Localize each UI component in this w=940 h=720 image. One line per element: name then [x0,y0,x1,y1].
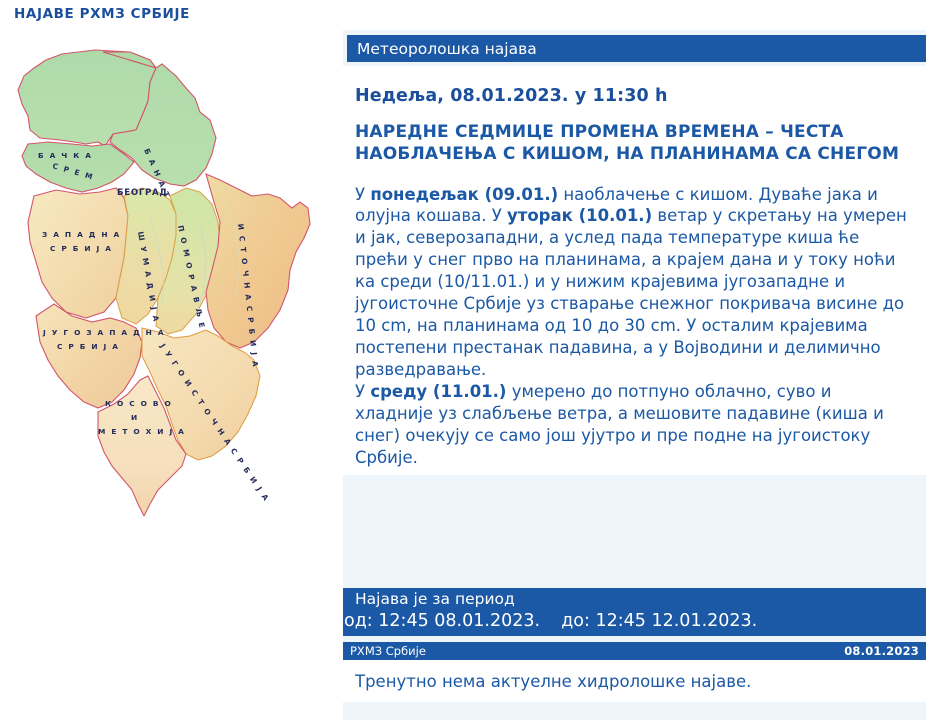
header-spacer [343,66,926,76]
map-label-kosovo-3: М Е Т О Х И Ј А [98,427,186,436]
source-date: 08.01.2023 [844,644,919,658]
source-name: РХМЗ Србије [350,644,426,658]
map-label-beograd: БЕОГРАД [117,188,168,198]
period-from-label: од: [344,611,373,631]
serbia-map[interactable]: Б А Ч К А Б А Н А Т С Р Е М БЕОГРАД З А … [0,46,340,516]
map-region-srem[interactable] [22,142,134,192]
forecast-content: Недеља, 08.01.2023. у 11:30 h НАРЕДНЕ СЕ… [343,76,926,475]
forecast-headline: НАРЕДНЕ СЕДМИЦЕ ПРОМЕНА ВРЕМЕНА – ЧЕСТА … [355,122,912,166]
panel-bottom-spacer [343,702,926,720]
map-label-zapadna-srbija-1: З А П А Д Н А [42,230,121,239]
meteo-section-header: Метеоролошка најава [347,35,926,62]
source-bar: РХМЗ Србије 08.01.2023 [343,642,926,660]
map-label-kosovo-2: И [131,413,139,422]
hydrology-notice-text: Тренутно нема актуелне хидролошке најаве… [355,672,751,691]
page-title: НАЈАВЕ РХМЗ СРБИЈЕ [14,6,190,22]
hydrology-notice-block: Тренутно нема актуелне хидролошке најаве… [343,660,926,702]
map-region-istocna-srbija[interactable] [206,174,310,348]
map-label-zapadna-srbija-2: С Р Б И Ј А [50,244,113,253]
forecast-dateline: Недеља, 08.01.2023. у 11:30 h [355,86,912,106]
forecast-panel: Метеоролошка најава Недеља, 08.01.2023. … [343,30,926,690]
map-region-zapadna-srbija[interactable] [28,188,128,318]
validity-period-bar: Најава је за период од: 12:45 08.01.2023… [343,588,926,636]
meteo-section-title: Метеоролошка најава [357,38,537,60]
period-to-value: 12:45 12.01.2023. [595,611,757,631]
period-from-value: 12:45 08.01.2023. [378,611,540,631]
validity-period-range: од: 12:45 08.01.2023. до: 12:45 12.01.20… [344,611,757,631]
map-label-jugozapadna-srbija-2: С Р Б И Ј А [57,342,120,351]
forecast-body-text: У понедељак (09.01.) наоблачење с кишом.… [355,184,912,469]
validity-period-title: Најава је за период [355,590,515,608]
map-label-backa: Б А Ч К А [38,151,93,160]
period-to-label: до: [561,611,590,631]
map-label-kosovo-1: К О С О В О [105,399,173,408]
serbia-map-panel: Б А Ч К А Б А Н А Т С Р Е М БЕОГРАД З А … [0,46,340,516]
map-label-jugozapadna-srbija-1: Ј У Г О З А П А Д Н А [42,328,165,337]
